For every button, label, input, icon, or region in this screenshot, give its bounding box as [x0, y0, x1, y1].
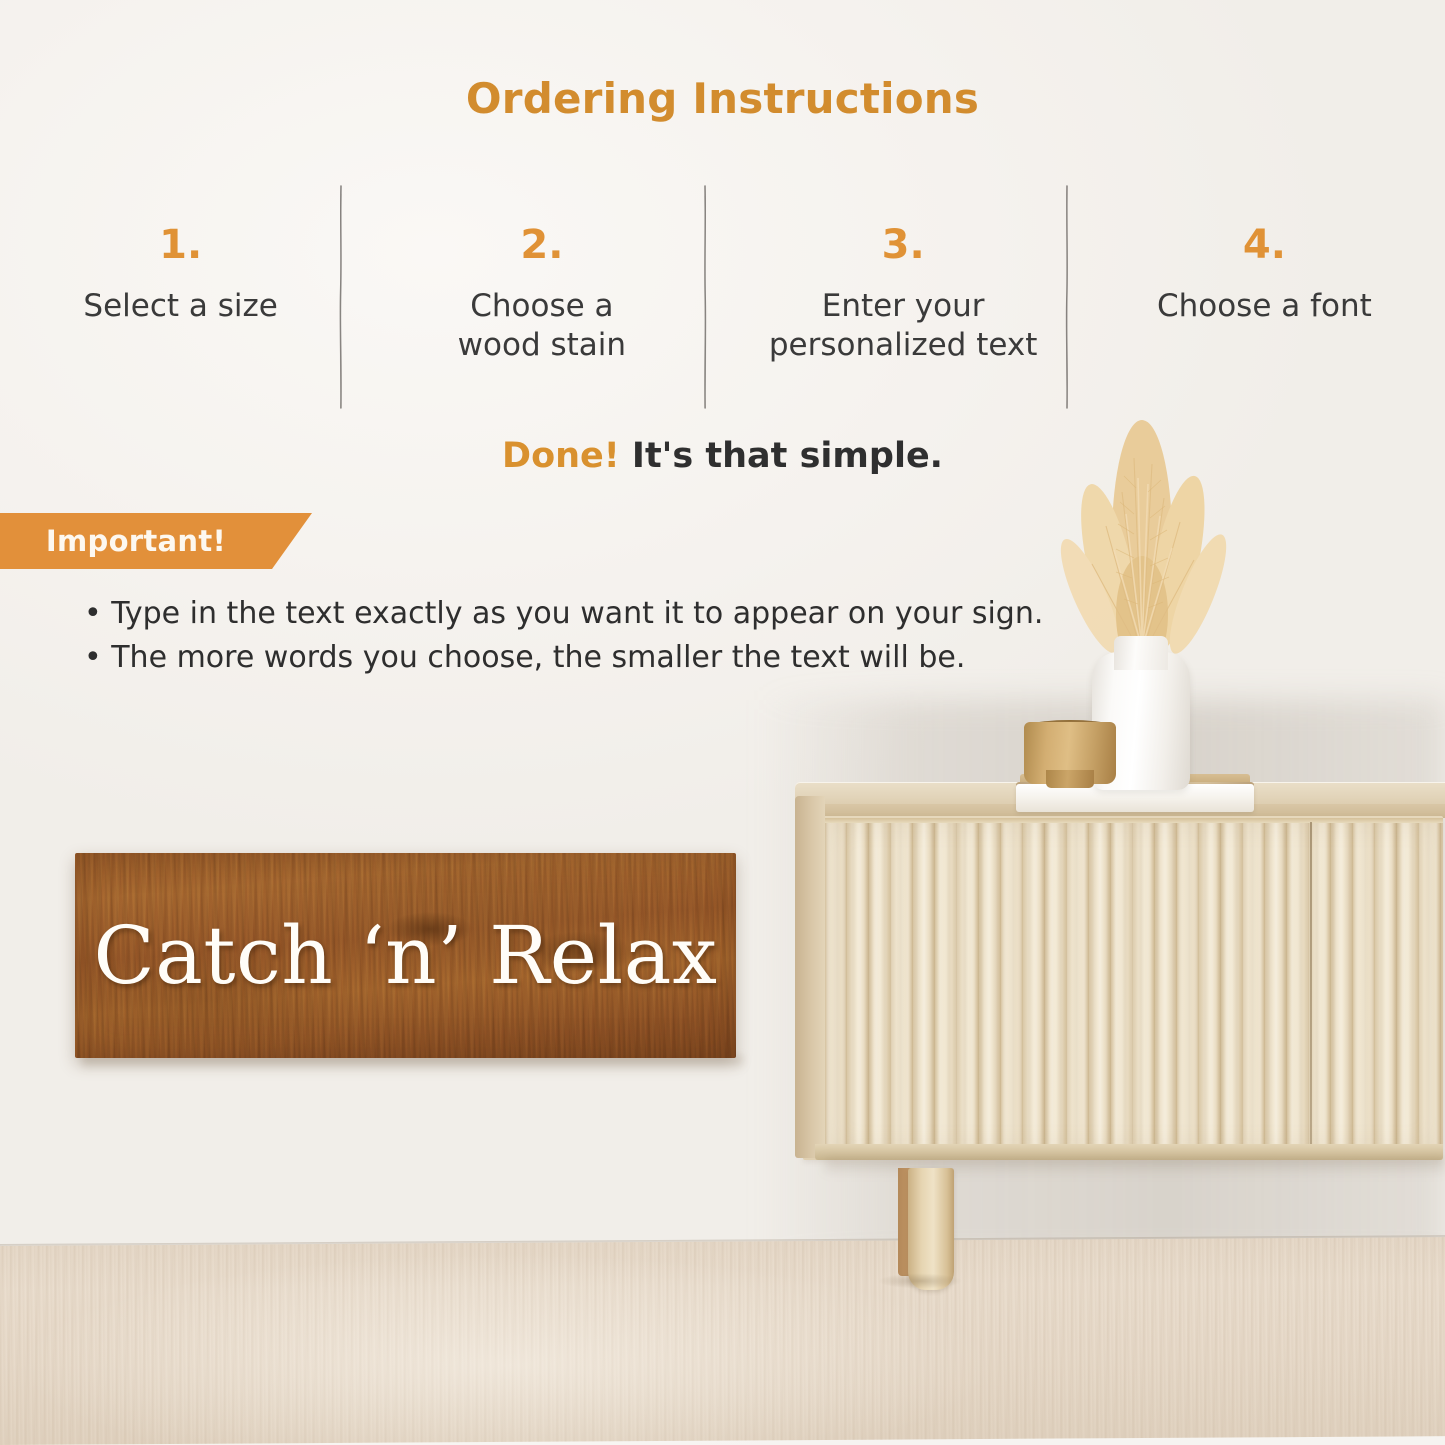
step-3: 3. Enter your personalized text	[723, 225, 1084, 405]
important-bullet-list: • Type in the text exactly as you want i…	[84, 592, 1124, 679]
step-1: 1. Select a size	[0, 225, 361, 405]
step-divider-3-icon	[1062, 184, 1072, 410]
step-3-label: Enter your personalized text	[735, 287, 1072, 365]
step-divider-2-icon	[700, 184, 710, 410]
wooden-bowl-foot	[1046, 770, 1094, 788]
done-highlight: Done!	[502, 436, 620, 476]
bullet-item-2: • The more words you choose, the smaller…	[84, 636, 1124, 680]
personalized-wood-sign: Catch ‘n’ Relax	[75, 853, 736, 1058]
fluted-door-panels	[825, 822, 1443, 1150]
page-title: Ordering Instructions	[0, 74, 1445, 123]
sideboard-leg-shadow	[860, 1270, 980, 1292]
sideboard-cabinet	[795, 782, 1445, 1174]
bullet-item-1: • Type in the text exactly as you want i…	[84, 592, 1124, 636]
important-banner: Important!	[0, 513, 312, 569]
room-scene: Catch ‘n’ Relax	[0, 0, 1445, 1445]
sideboard-left-panel	[795, 796, 825, 1158]
step-4-number: 4.	[1096, 225, 1433, 265]
important-banner-label: Important!	[0, 513, 272, 569]
sideboard-frame-top	[825, 818, 1443, 823]
step-1-number: 1.	[12, 225, 349, 265]
sign-drop-shadow	[82, 1056, 743, 1070]
step-2: 2. Choose a wood stain	[361, 225, 722, 405]
door-seam	[1310, 822, 1312, 1150]
floor-light-glow	[0, 1246, 1445, 1445]
done-rest: It's that simple.	[620, 436, 943, 476]
step-2-number: 2.	[373, 225, 710, 265]
steps-row: 1. Select a size 2. Choose a wood stain …	[0, 225, 1445, 405]
product-listing-image: Catch ‘n’ Relax Ordering Instructions 1.…	[0, 0, 1445, 1445]
step-2-label: Choose a wood stain	[373, 287, 710, 365]
step-3-number: 3.	[735, 225, 1072, 265]
sign-engraved-text: Catch ‘n’ Relax	[75, 853, 736, 1058]
step-divider-1-icon	[336, 184, 346, 410]
step-1-label: Select a size	[12, 287, 349, 326]
sideboard-frame-bottom	[815, 1144, 1443, 1160]
step-4-label: Choose a font	[1096, 287, 1433, 326]
step-4: 4. Choose a font	[1084, 225, 1445, 405]
done-line: Done! It's that simple.	[0, 435, 1445, 477]
